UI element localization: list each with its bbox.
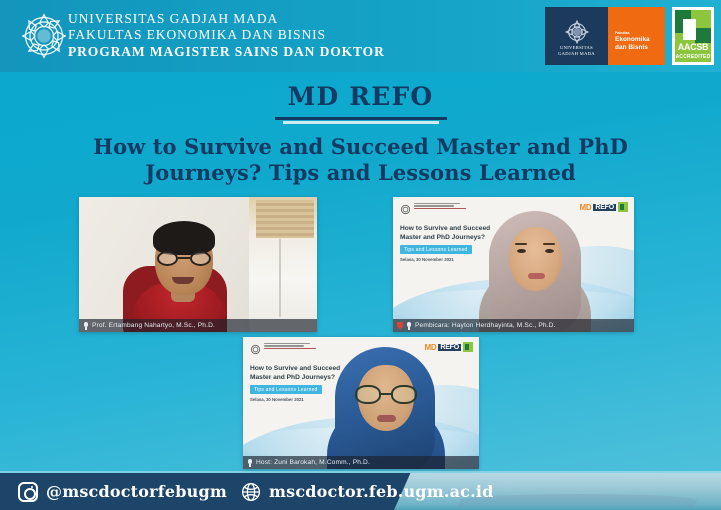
md-refo-logo-md: MD (580, 203, 592, 212)
slide-header-lines (264, 342, 316, 349)
feb-logo-caption-big: Ekonomika dan Bisnis (615, 36, 650, 51)
microphone-icon (247, 459, 253, 467)
instagram-contact[interactable]: @mscdoctorfebugm (18, 482, 227, 502)
participant-name-bar: Prof. Ertambang Nahartyo, M.Sc., Ph.D. (79, 319, 317, 332)
video-panel-host[interactable]: How to Survive and Succeed Master and Ph… (243, 337, 479, 469)
institution-line-1: UNIVERSITAS GADJAH MADA (68, 11, 385, 27)
ugm-logo-caption: UNIVERSITAS GADJAH MADA (545, 45, 608, 57)
participant-eye-left (517, 249, 526, 253)
slide-title-line-2: Master and PhD Journeys? (400, 234, 485, 241)
aacsb-mark-icon: AACSB ACCREDITED (675, 10, 711, 62)
participant-mouth (528, 273, 545, 279)
globe-icon (241, 482, 261, 502)
ugm-seal-slide-icon (250, 342, 261, 353)
participant-name-label: Prof. Ertambang Nahartyo, M.Sc., Ph.D. (92, 322, 215, 329)
md-refo-logo: MD REFO (580, 202, 629, 212)
md-refo-logo-refo: REFO (593, 204, 616, 211)
slide-title-line-1: How to Survive and Succeed (400, 225, 490, 232)
institution-line-2: FAKULTAS EKONOMIKA DAN BISNIS (68, 27, 385, 43)
window-blind (256, 200, 314, 238)
participant-mouth (172, 277, 194, 284)
slide-header-lines (414, 202, 466, 209)
instagram-icon (18, 482, 38, 502)
ugm-logo: UNIVERSITAS GADJAH MADA (545, 7, 608, 65)
eyeglasses-icon (355, 385, 417, 404)
eyeglasses-icon (157, 251, 211, 266)
feb-logo: Fakultas Ekonomika dan Bisnis (608, 7, 665, 65)
feb-logo-caption-small: Fakultas (615, 31, 630, 35)
slide-date: Selasa, 30 November 2021 (250, 397, 304, 402)
institution-name: UNIVERSITAS GADJAH MADA FAKULTAS EKONOMI… (68, 11, 385, 60)
participant-eye-right (545, 249, 554, 253)
video-panel-speaker-two[interactable]: How to Survive and Succeed Master and Ph… (393, 197, 634, 332)
participant-name-label: Host: Zuni Barokah, M.Comm., Ph.D. (256, 459, 370, 466)
program-eyebrow: MD REFO (0, 82, 721, 111)
pin-icon (397, 322, 403, 330)
slide-title-line-2: Master and PhD Journeys? (250, 374, 335, 381)
md-refo-logo-refo: REFO (438, 344, 461, 351)
ugm-seal-slide-icon (400, 202, 411, 213)
aacsb-leaf-icon (618, 202, 628, 212)
aacsb-leaf-icon (463, 342, 473, 352)
participant-name-bar: Host: Zuni Barokah, M.Comm., Ph.D. (243, 456, 479, 469)
ugm-seal-small-icon (564, 19, 590, 45)
participant-mouth (377, 415, 396, 422)
participant-name-bar: Pembicara: Hayton Herdhayinta, M.Sc., Ph… (393, 319, 634, 332)
slide-badge: Tips and Lessons Learned (250, 385, 322, 394)
website-url: mscdoctor.feb.ugm.ac.id (269, 482, 494, 501)
title-block: MD REFO How to Survive and Succeed Maste… (0, 82, 721, 186)
slide-header (250, 342, 316, 353)
institution-line-3: PROGRAM MAGISTER SAINS DAN DOKTOR (68, 43, 385, 60)
md-refo-logo-md: MD (425, 343, 437, 352)
aacsb-label: AACSB (675, 42, 711, 52)
slide-date: Selasa, 30 November 2021 (400, 257, 454, 262)
slide-badge: Tips and Lessons Learned (400, 245, 472, 254)
slide-header (400, 202, 466, 213)
title-divider (275, 117, 447, 124)
aacsb-accredited-label: ACCREDITED (675, 54, 711, 60)
page-title-line-1: How to Survive and Succeed Master and Ph… (93, 134, 628, 159)
microphone-icon (406, 322, 412, 330)
participant-face (509, 227, 562, 291)
page-title: How to Survive and Succeed Master and Ph… (0, 134, 721, 186)
video-panel-speaker-one[interactable]: Prof. Ertambang Nahartyo, M.Sc., Ph.D. (79, 197, 317, 332)
microphone-icon (83, 322, 89, 330)
instagram-handle: @mscdoctorfebugm (46, 482, 227, 501)
participant-name-label: Pembicara: Hayton Herdhayinta, M.Sc., Ph… (415, 322, 556, 329)
aacsb-logo: AACSB ACCREDITED (672, 7, 714, 65)
participant-hair (153, 221, 215, 255)
website-contact[interactable]: mscdoctor.feb.ugm.ac.id (241, 482, 494, 502)
webinar-poster: UNIVERSITAS GADJAH MADA FAKULTAS EKONOMI… (0, 0, 721, 510)
ugm-seal-icon (16, 8, 72, 64)
window-frame (279, 239, 281, 317)
poster-footer: @mscdoctorfebugm mscdoctor.feb.ugm.ac.id (0, 473, 721, 510)
slide-title-line-1: How to Survive and Succeed (250, 365, 340, 372)
page-title-line-2: Journeys? Tips and Lessons Learned (145, 160, 576, 185)
poster-header: UNIVERSITAS GADJAH MADA FAKULTAS EKONOMI… (0, 0, 721, 72)
md-refo-logo: MD REFO (425, 342, 474, 352)
